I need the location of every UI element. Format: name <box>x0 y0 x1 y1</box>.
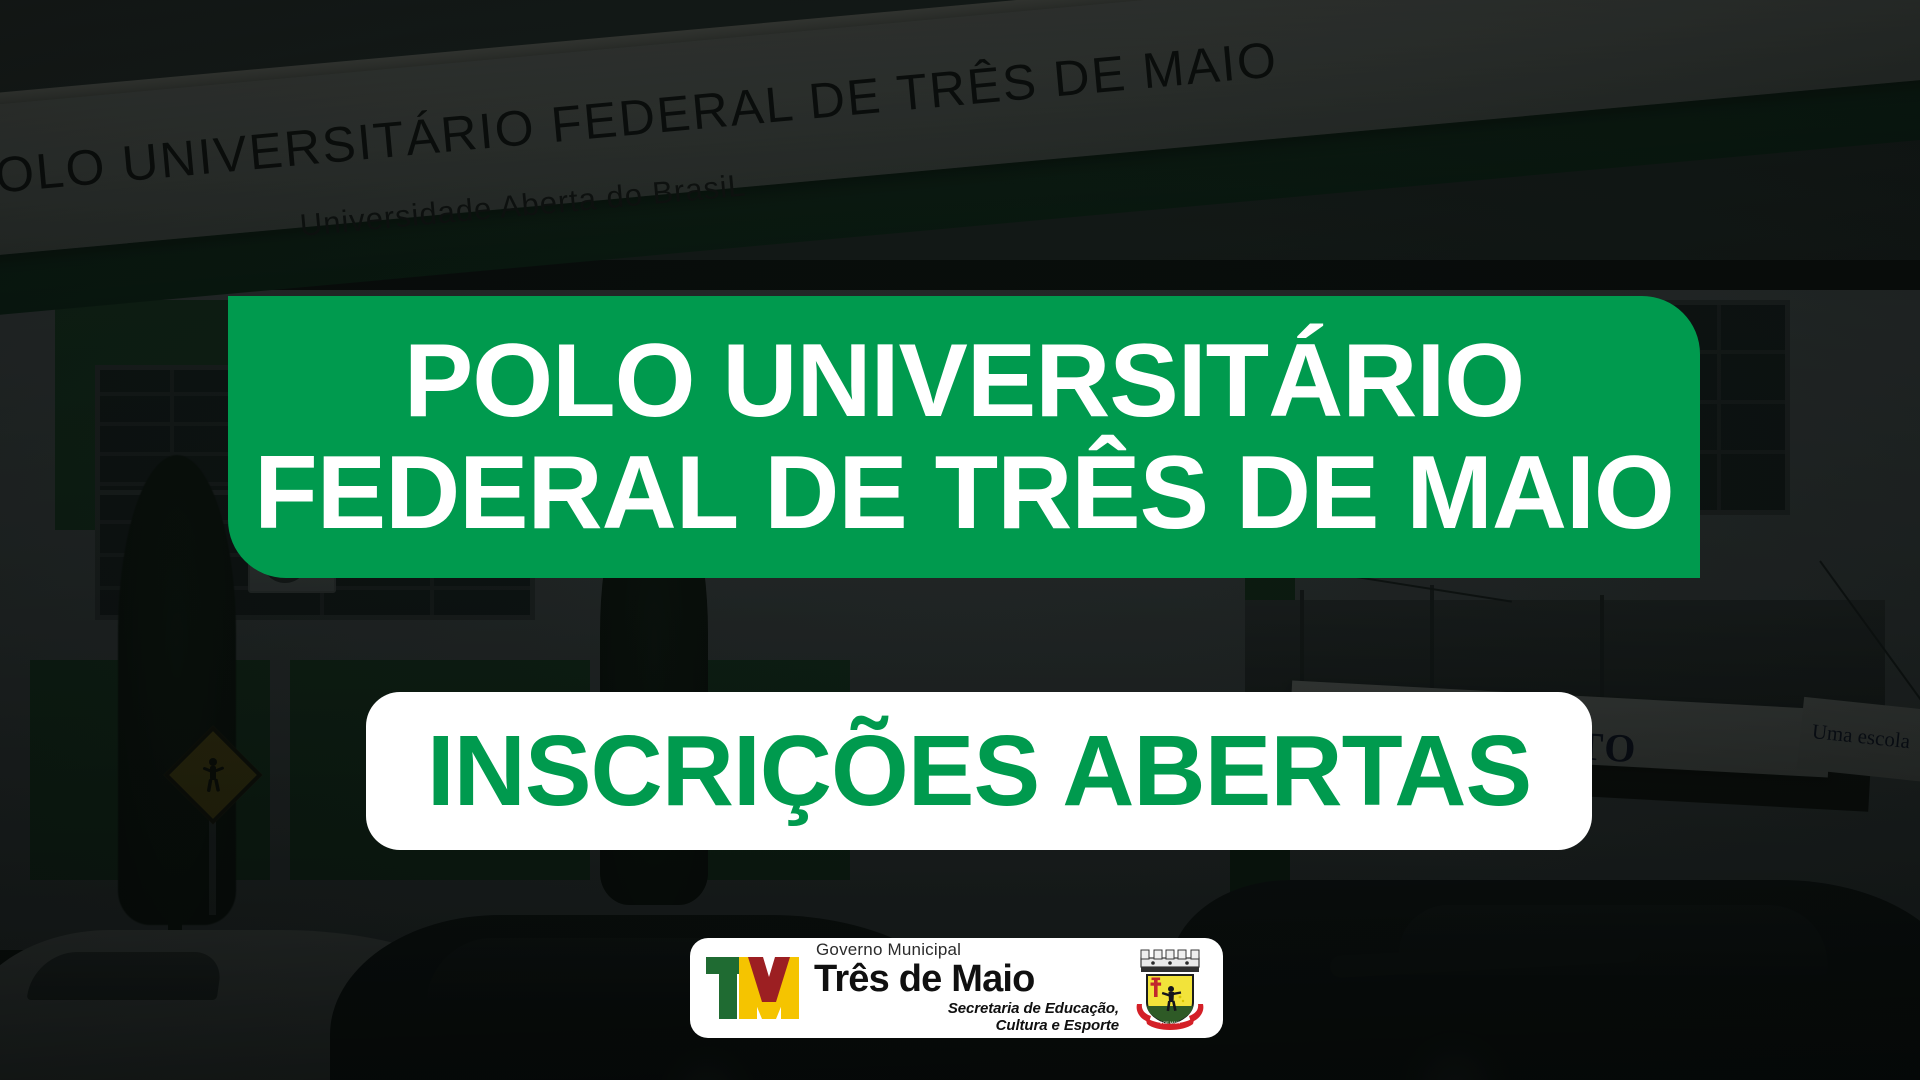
headline-banner: POLO UNIVERSITÁRIO FEDERAL DE TRÊS DE MA… <box>228 296 1700 578</box>
callout-text: INSCRIÇÕES ABERTAS <box>427 721 1531 821</box>
callout-card: INSCRIÇÕES ABERTAS <box>366 692 1592 850</box>
department-line-1: Secretaria de Educação, <box>948 1000 1119 1017</box>
department-line-2: Cultura e Esporte <box>996 1017 1119 1034</box>
crest-motto-text: 3 DE MAIO <box>1160 1020 1180 1025</box>
coat-of-arms-icon: 3 DE MAIO <box>1131 944 1209 1032</box>
promotional-poster: DOM HERMETO Uma escola POLO UNIVERSITÁRI… <box>0 0 1920 1080</box>
government-wordmark: Governo Municipal Três de Maio Secretari… <box>814 941 1119 1034</box>
tm-monogram-icon <box>706 957 802 1019</box>
gov-label: Governo Municipal <box>816 941 1119 959</box>
footer-logo-bar: Governo Municipal Três de Maio Secretari… <box>690 938 1223 1038</box>
city-name: Três de Maio <box>814 960 1119 998</box>
department-name: Secretaria de Educação, Cultura e Esport… <box>814 1001 1119 1035</box>
headline-line-2: FEDERAL DE TRÊS DE MAIO <box>254 441 1674 545</box>
headline-line-1: POLO UNIVERSITÁRIO <box>404 329 1524 433</box>
